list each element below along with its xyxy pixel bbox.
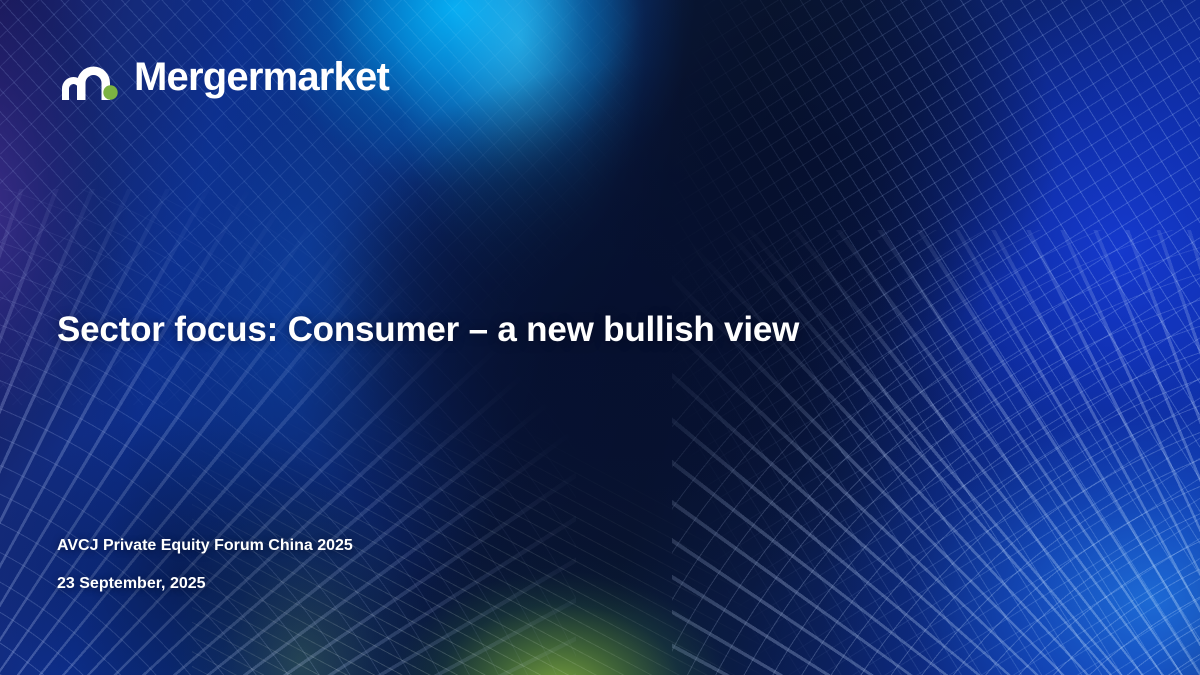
footer-date: 23 September, 2025 [57,576,353,592]
slide-title: Sector focus: Consumer – a new bullish v… [57,309,799,351]
slide-content: Mergermarket Sector focus: Consumer – a … [0,0,1200,675]
title-slide: Mergermarket Sector focus: Consumer – a … [0,0,1200,675]
mergermarket-arch-icon [62,54,118,100]
footer-event-name: AVCJ Private Equity Forum China 2025 [57,538,353,554]
slide-footer: AVCJ Private Equity Forum China 2025 23 … [57,538,353,592]
mergermarket-logo: Mergermarket [62,48,389,106]
brand-wordmark: Mergermarket [134,57,389,97]
green-dot-icon [103,85,117,99]
